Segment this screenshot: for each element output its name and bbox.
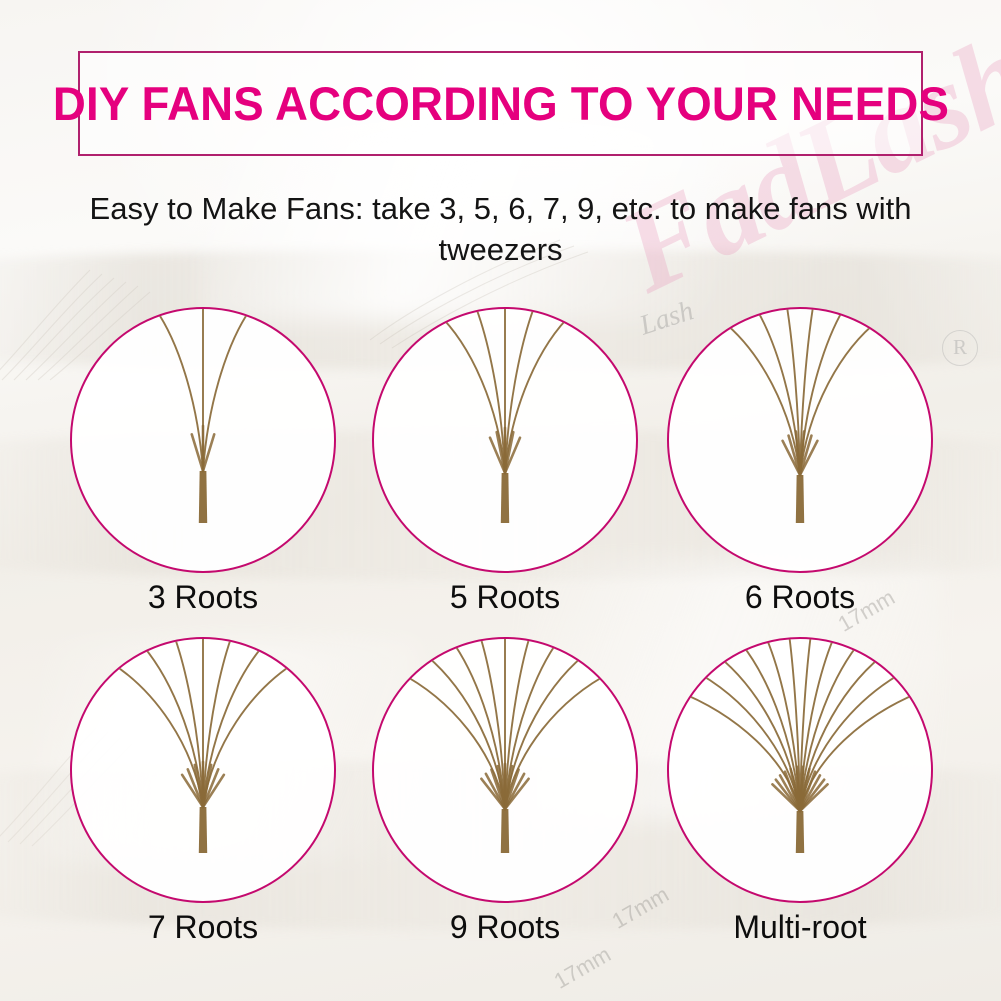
fan-cell-7-roots: 7 Roots	[70, 637, 336, 903]
lash-fan-3-roots	[72, 309, 334, 571]
fan-label-6-roots: 6 Roots	[627, 579, 973, 616]
fan-circle-6-roots	[667, 307, 933, 573]
fan-label-7-roots: 7 Roots	[30, 909, 376, 946]
fan-cell-6-roots: 6 Roots	[667, 307, 933, 573]
fan-cell-multi-root: Multi-root	[667, 637, 933, 903]
fan-circle-7-roots	[70, 637, 336, 903]
fan-circle-3-roots	[70, 307, 336, 573]
lash-fan-multi-root	[669, 639, 931, 901]
lash-fan-9-roots	[374, 639, 636, 901]
infographic-page: FadLash Lash R 17mm 17mm 17mm DIY FANS A…	[0, 0, 1001, 1001]
fan-circle-5-roots	[372, 307, 638, 573]
lash-fan-7-roots	[72, 639, 334, 901]
fan-label-3-roots: 3 Roots	[30, 579, 376, 616]
fan-circle-multi-root	[667, 637, 933, 903]
fan-cell-5-roots: 5 Roots	[372, 307, 638, 573]
fan-grid: 3 Roots 5 Roots 6 Roots 7 Roots 9 Roots	[0, 0, 1001, 1001]
fan-label-multi-root: Multi-root	[627, 909, 973, 946]
fan-cell-9-roots: 9 Roots	[372, 637, 638, 903]
lash-fan-6-roots	[669, 309, 931, 571]
fan-circle-9-roots	[372, 637, 638, 903]
fan-cell-3-roots: 3 Roots	[70, 307, 336, 573]
lash-fan-5-roots	[374, 309, 636, 571]
